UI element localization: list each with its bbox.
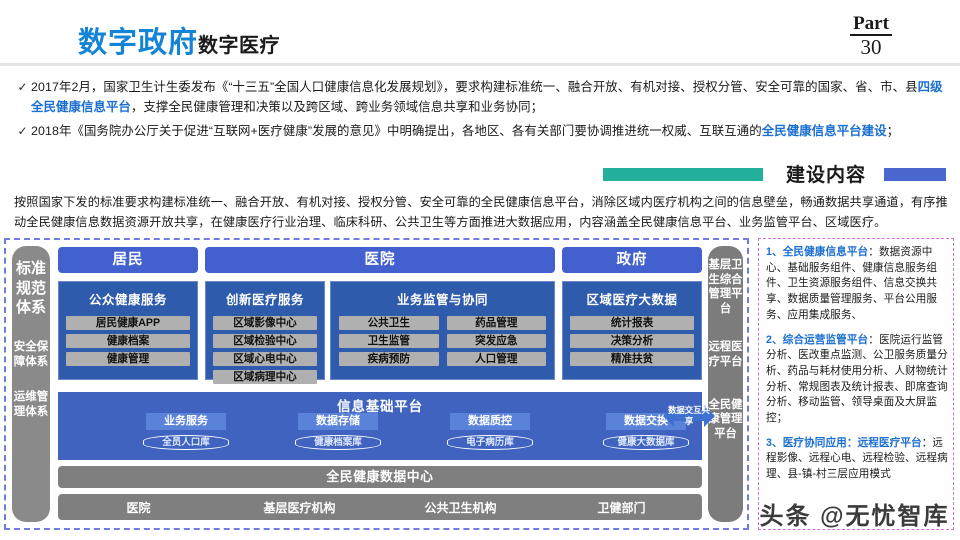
panel-title: 创新医疗服务 [206, 290, 324, 308]
chip-item: 区域检验中心 [213, 334, 317, 348]
page-title: 数字政府数字医疗 [78, 19, 280, 61]
part-indicator: Part 30 [830, 14, 912, 59]
detail-number: 1、 [766, 246, 783, 258]
organization-hospital: 医院 [58, 499, 219, 516]
right-rail: 基层卫生综合管理平台 远程医疗平台 全民健康管理平台 [708, 246, 743, 522]
watermark: 头条 @无忧智库 [752, 500, 957, 534]
chip-column: 统计报表 决策分析 精准扶贫 [570, 316, 694, 366]
info-base-platform-title: 信息基础平台 [58, 395, 702, 415]
detail-item-2: 2、综合运营监管平台：医院运行监管分析、医改重点监测、公卫服务质量分析、药品与耗… [766, 333, 949, 427]
slide-root: 数字政府数字医疗 Part 30 ✓ 2017年2月，国家卫生计生委发布《“十三… [0, 0, 960, 540]
detail-number: 3、 [766, 437, 783, 449]
panel-innovative-care: 创新医疗服务 区域影像中心 区域检验中心 区域心电中心 区域病理中心 [205, 281, 325, 380]
part-label: Part [850, 14, 892, 36]
section-title: 建设内容 [772, 160, 880, 187]
chip-item: 人口管理 [447, 352, 547, 366]
database-icon-population: 全员人口库 [143, 435, 229, 450]
part-number: 30 [830, 36, 912, 59]
bullet-text: 2017年2月，国家卫生计生委发布《“十三五”全国人口健康信息化发展规划》，要求… [31, 78, 954, 117]
organization-health-dept: 卫健部门 [541, 499, 702, 516]
chip-item: 决策分析 [570, 334, 694, 348]
right-rail-item-primary-care: 基层卫生综合管理平台 [708, 258, 743, 316]
chip-item: 疾病预防 [339, 352, 439, 366]
bullet-segment: ； [887, 124, 900, 138]
info-base-platform: 信息基础平台 业务服务 数据存储 数据质控 数据交换 全员人口库 健康档案库 电… [58, 392, 702, 460]
platform-tag-service: 业务服务 [146, 413, 226, 430]
panel-title: 公众健康服务 [59, 290, 197, 308]
chip-item: 健康管理 [66, 352, 190, 366]
panel-public-health: 公众健康服务 居民健康APP 健康档案 健康管理 [58, 281, 198, 380]
chip-item: 区域病理中心 [213, 370, 317, 384]
section-bar-right [884, 168, 946, 181]
data-exchange-arrow: 数据交互共享 [663, 402, 715, 430]
chip-item: 居民健康APP [66, 316, 190, 330]
left-rail: 标准规范体系 安全保障体系 运维管理体系 [12, 246, 50, 522]
organization-public-health: 公共卫生机构 [380, 499, 541, 516]
bullet-text: 2018年《国务院办公厅关于促进“互联网+医疗健康”发展的意见》中明确提出，各地… [31, 122, 899, 142]
left-rail-item-ops: 运维管理体系 [12, 390, 50, 420]
chip-grid: 公共卫生 卫生监管 疾病预防 药品管理 突发应急 人口管理 [339, 316, 546, 370]
right-detail-panel: 1、全民健康信息平台：数据资源中心、基础服务组件、健康信息服务组件、卫生资源服务… [758, 238, 954, 530]
detail-key: 医疗协同应用：远程医疗平台 [783, 437, 922, 449]
bullet-segment: 2018年《国务院办公厅关于促进“互联网+医疗健康”发展的意见》中明确提出，各地… [31, 124, 762, 138]
database-icon-emr: 电子病历库 [447, 435, 533, 450]
panel-title: 区域医疗大数据 [563, 290, 701, 308]
banner-government: 政府 [562, 247, 702, 273]
left-rail-item-security: 安全保障体系 [12, 340, 50, 370]
panel-title: 业务监管与协同 [331, 290, 554, 308]
chip-column-left: 公共卫生 卫生监管 疾病预防 [339, 316, 439, 370]
chip-column-right: 药品管理 突发应急 人口管理 [447, 316, 547, 370]
detail-key: 全民健康信息平台 [783, 246, 869, 258]
page-title-primary: 数字政府 [78, 27, 198, 59]
header-divider [0, 63, 960, 66]
data-center-bar: 全民健康数据中心 [58, 466, 702, 488]
right-rail-item-telemedicine: 远程医疗平台 [708, 340, 743, 369]
bullet-item: ✓ 2017年2月，国家卫生计生委发布《“十三五”全国人口健康信息化发展规划》，… [14, 78, 954, 117]
detail-key: 综合运营监管平台 [783, 334, 869, 346]
organizations-bar: 医院 基层医疗机构 公共卫生机构 卫健部门 [58, 494, 702, 520]
database-icon-health-record: 健康档案库 [295, 435, 381, 450]
section-bar-left [603, 168, 763, 181]
bullet-list: ✓ 2017年2月，国家卫生计生委发布《“十三五”全国人口健康信息化发展规划》，… [14, 78, 954, 147]
chip-column: 居民健康APP 健康档案 健康管理 [66, 316, 190, 366]
detail-item-3: 3、医疗协同应用：远程医疗平台：远程影像、远程心电、远程检验、远程病理、县-镇-… [766, 436, 949, 483]
organizations-row: 医院 基层医疗机构 公共卫生机构 卫健部门 [58, 494, 702, 520]
chip-item: 药品管理 [447, 316, 547, 330]
chip-item: 统计报表 [570, 316, 694, 330]
chip-item: 卫生监管 [339, 334, 439, 348]
bullet-segment-highlight: 全民健康信息平台建设 [762, 124, 887, 138]
check-icon: ✓ [14, 78, 31, 97]
banner-residents: 居民 [58, 247, 198, 273]
panel-regional-big-data: 区域医疗大数据 统计报表 决策分析 精准扶贫 [562, 281, 702, 380]
chip-item: 突发应急 [447, 334, 547, 348]
page-title-secondary: 数字医疗 [198, 35, 280, 57]
chip-item: 区域影像中心 [213, 316, 317, 330]
bullet-segment: 2017年2月，国家卫生计生委发布《“十三五”全国人口健康信息化发展规划》，要求… [31, 80, 918, 94]
platform-tag-quality: 数据质控 [450, 413, 530, 430]
detail-item-1: 1、全民健康信息平台：数据资源中心、基础服务组件、健康信息服务组件、卫生资源服务… [766, 245, 949, 324]
platform-tag-storage: 数据存储 [298, 413, 378, 430]
organization-primary-care: 基层医疗机构 [219, 499, 380, 516]
data-exchange-label: 数据交互共享 [667, 405, 711, 426]
chip-item: 健康档案 [66, 334, 190, 348]
intro-paragraph: 按照国家下发的标准要求构建标准统一、融合开放、有机对接、授权分管、安全可靠的全民… [14, 192, 952, 232]
bullet-segment: ，支撑全民健康管理和决策以及跨区域、跨业务领域信息共享和业务协同； [131, 100, 543, 114]
chip-item: 精准扶贫 [570, 352, 694, 366]
detail-body: ：医院运行监管分析、医改重点监测、公卫服务质量分析、药品与耗材使用分析、人财物统… [766, 334, 948, 425]
banner-hospital: 医院 [205, 247, 555, 273]
detail-number: 2、 [766, 334, 783, 346]
left-rail-item-standard: 标准规范体系 [12, 259, 50, 318]
bullet-item: ✓ 2018年《国务院办公厅关于促进“互联网+医疗健康”发展的意见》中明确提出，… [14, 122, 954, 142]
chip-item: 区域心电中心 [213, 352, 317, 366]
check-icon: ✓ [14, 122, 31, 141]
chip-item: 公共卫生 [339, 316, 439, 330]
panel-supervision: 业务监管与协同 公共卫生 卫生监管 疾病预防 药品管理 突发应急 人口管理 [330, 281, 555, 380]
database-icon-big-data: 健康大数据库 [603, 435, 689, 450]
chip-column: 区域影像中心 区域检验中心 区域心电中心 区域病理中心 [213, 316, 317, 384]
